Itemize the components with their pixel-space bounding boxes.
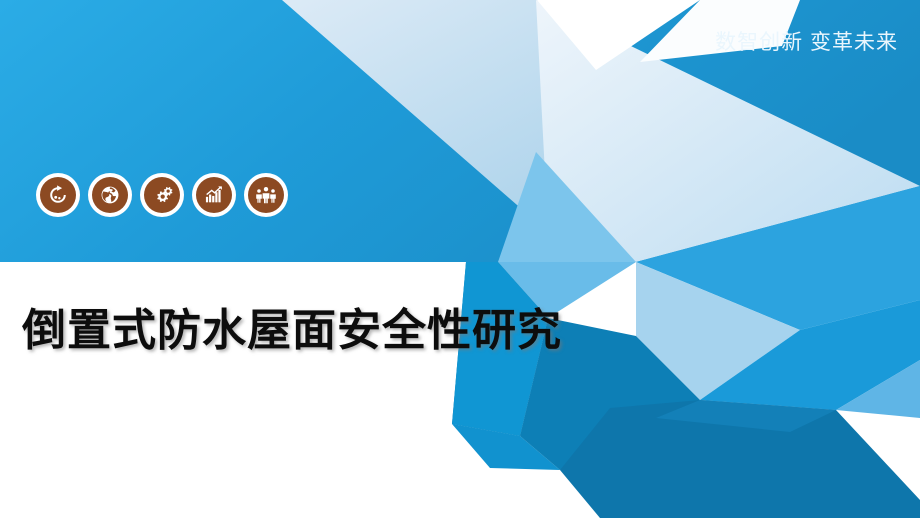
slide-background-artwork — [0, 0, 920, 518]
people-group-icon — [248, 177, 284, 213]
icon-badge-recycle[interactable] — [36, 173, 80, 217]
icon-badge-row — [36, 173, 288, 217]
gears-icon — [144, 177, 180, 213]
recycle-arrow-icon — [40, 177, 76, 213]
slide-tagline: 数智创新 变革未来 — [715, 26, 898, 56]
bar-chart-growth-icon — [196, 177, 232, 213]
icon-badge-globe[interactable] — [88, 173, 132, 217]
globe-icon — [92, 177, 128, 213]
presentation-slide: 数智创新 变革未来 — [0, 0, 920, 518]
icon-badge-people[interactable] — [244, 173, 288, 217]
icon-badge-bar-chart[interactable] — [192, 173, 236, 217]
icon-badge-gears[interactable] — [140, 173, 184, 217]
slide-title: 倒置式防水屋面安全性研究 — [22, 294, 562, 358]
